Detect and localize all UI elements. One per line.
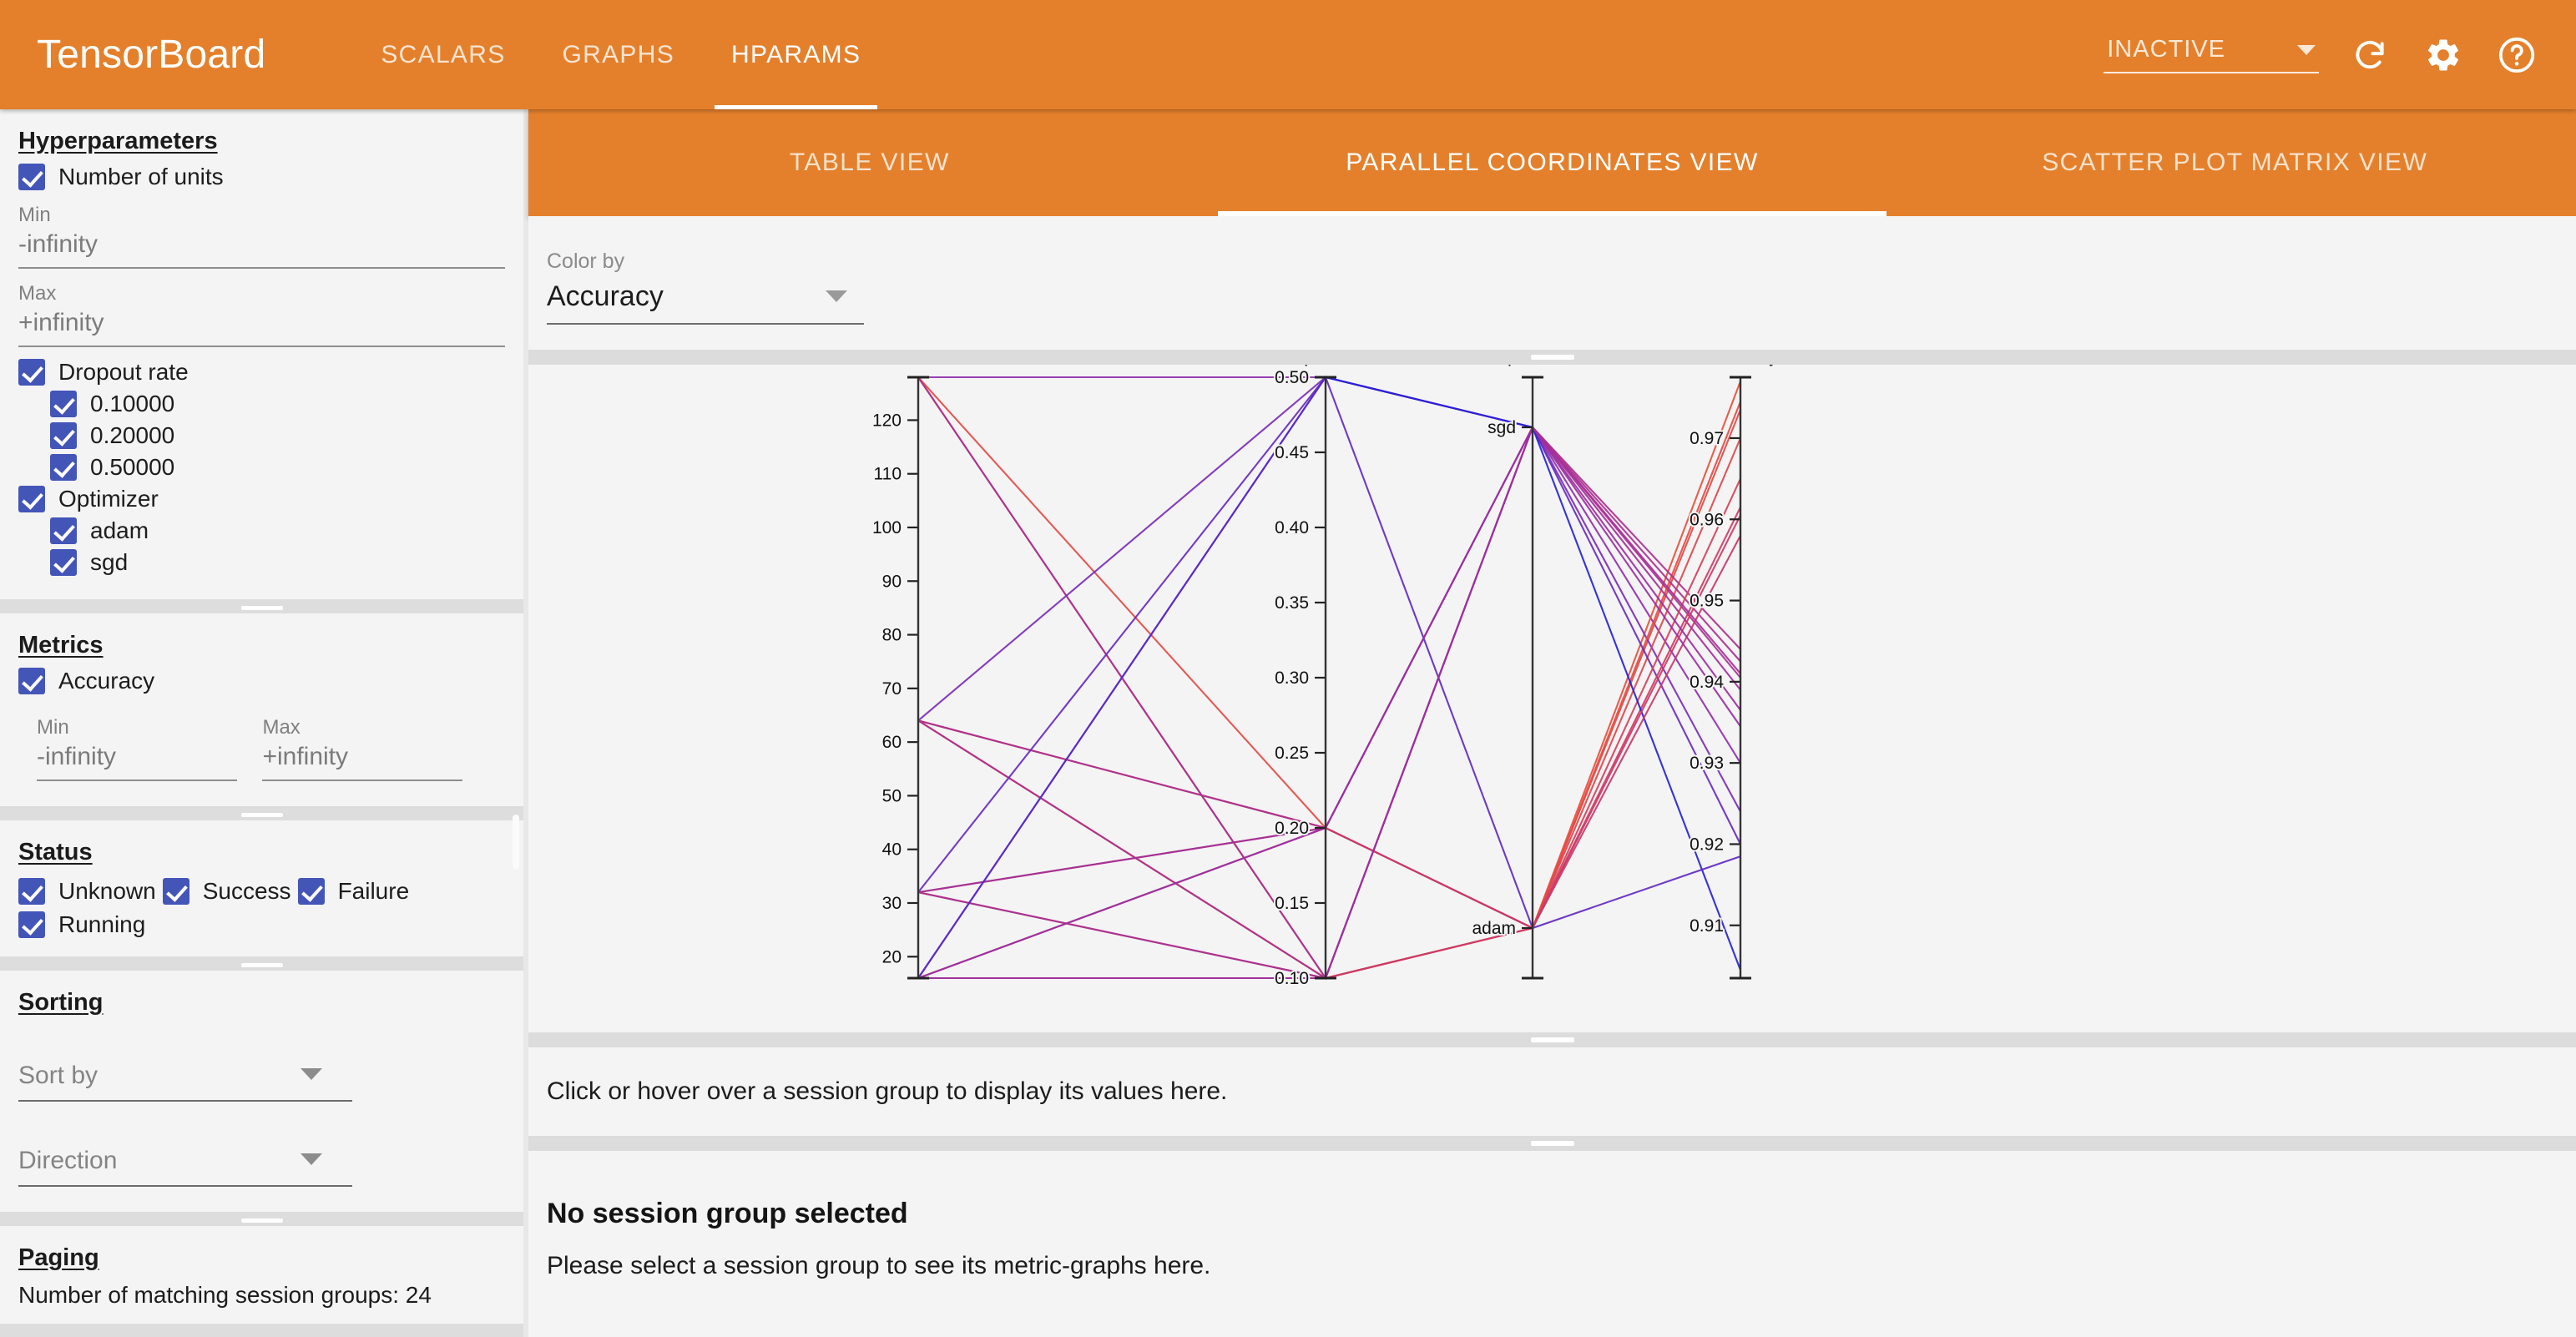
metric-accuracy-label: Accuracy [58,668,154,694]
axis-tick-label: 0.35 [1275,593,1309,613]
accuracy-max-input[interactable]: +infinity [262,743,462,781]
sidebar-resize-handle[interactable] [513,815,519,870]
checkbox-dropout-0.1[interactable] [50,391,77,417]
parallel-coordinates-svg[interactable]: Number of units2020303040405050606070708… [528,365,2576,1032]
axis-tick-label: 0.25 [1275,744,1309,763]
axis-tick-label: 110 [874,465,902,484]
sorting-title: Sorting [18,989,505,1017]
sort-by-select[interactable]: Sort by [18,1062,352,1102]
optimizer-value-label: sgd [90,549,128,576]
axis-title: Number of units [853,365,982,366]
session-values-hint: Click or hover over a session group to d… [528,1047,2576,1136]
hparam-optimizer-label: Optimizer [58,486,159,512]
dropout-value-label: 0.10000 [90,391,174,417]
axis-tick-label: 0.40 [1275,518,1309,537]
matching-session-groups-text: Number of matching session groups: 24 [18,1282,505,1309]
sorting-card: Sorting Sort by Direction [0,971,523,1212]
axis-tick-label: 0.10 [1275,969,1309,988]
nav-tab-graphs[interactable]: GRAPHS [534,0,704,109]
axis-tick-label: 0.93 [1690,754,1724,773]
axis-tick-label: 0.97 [1690,429,1724,448]
checkbox-optimizer-adam[interactable] [50,517,77,544]
optimizer-value-row[interactable]: adam [18,517,505,544]
session-group-line[interactable] [918,427,1740,978]
left-sidebar[interactable]: Hyperparameters Number of units Min -inf… [0,109,523,1337]
top-app-bar: TensorBoard SCALARS GRAPHS HPARAMS INACT… [0,0,2576,109]
hparam-number-of-units-label: Number of units [58,164,224,190]
axis-tick-label: sgd [1488,418,1516,437]
number-of-units-min-input[interactable]: -infinity [18,230,505,269]
tab-scatter-plot-matrix-view[interactable]: SCATTER PLOT MATRIX VIEW [1893,109,2576,216]
status-label: Success [203,878,291,905]
hparam-dropout-rate-row[interactable]: Dropout rate [18,359,505,386]
max-label: Max [18,282,505,305]
session-group-body: Please select a session group to see its… [547,1252,2558,1280]
number-of-units-max-field[interactable]: Max +infinity [18,282,505,347]
sort-by-value: Sort by [18,1062,98,1089]
status-item-failure[interactable]: Failure [298,878,410,905]
color-by-select[interactable]: Accuracy [547,280,864,325]
axis-tick-label: 0.95 [1690,592,1724,611]
chevron-down-icon [301,1068,322,1080]
accuracy-min-input[interactable]: -infinity [37,743,237,781]
max-label: Max [262,716,462,739]
help-circle-icon[interactable] [2494,33,2539,78]
status-card: Status Unknown Success Failure Running [0,820,523,956]
axis-tick-label: adam [1472,919,1516,938]
hparam-number-of-units-row[interactable]: Number of units [18,164,505,190]
chevron-down-icon [2297,45,2316,55]
session-group-line[interactable] [918,377,1740,928]
reload-status-select[interactable]: INACTIVE [2104,36,2319,73]
checkbox-dropout-0.2[interactable] [50,422,77,449]
app-bar-actions: INACTIVE [2104,33,2576,78]
axis-tick-label: 0.15 [1275,894,1309,913]
metrics-title: Metrics [18,632,505,659]
session-group-line[interactable] [918,427,1740,978]
axis-tick-label: 50 [882,786,902,805]
panel-resize-handle[interactable] [241,963,283,967]
chevron-down-icon [826,290,847,302]
hyperparameters-title: Hyperparameters [18,128,505,155]
axis-number-of-units[interactable]: Number of units2020303040405050606070708… [853,365,982,978]
dropout-value-label: 0.50000 [90,454,174,481]
accuracy-max-field[interactable]: Max +infinity [262,716,462,781]
session-group-line[interactable] [918,438,1740,928]
axis-tick-label: 0.92 [1690,835,1724,854]
metrics-card: Metrics Accuracy Min -infinity Max +infi… [0,613,523,806]
panel-resize-handle[interactable] [241,606,283,610]
view-tabs: TABLE VIEW PARALLEL COORDINATES VIEW SCA… [528,109,2576,216]
paging-card: Paging Number of matching session groups… [0,1226,523,1324]
color-by-value: Accuracy [547,280,664,312]
session-group-line[interactable] [918,377,1740,978]
status-item-running[interactable]: Running [18,911,145,938]
panel-resize-handle[interactable] [241,1218,283,1223]
axis-title: Optimizer [1493,365,1572,366]
status-title: Status [18,839,505,866]
axis-dropout-rate[interactable]: Dropout rate0.100.100.150.150.200.200.25… [1275,365,1376,988]
chevron-down-icon [301,1153,322,1165]
session-group-line[interactable] [918,377,1740,978]
checkbox-status-failure[interactable] [298,878,325,905]
session-group-line[interactable] [918,401,1740,978]
accuracy-min-field[interactable]: Min -infinity [37,716,237,781]
axis-tick-label: 0.94 [1690,673,1724,692]
color-by-label: Color by [547,250,2576,274]
parallel-coordinates-chart[interactable]: Number of units2020303040405050606070708… [528,365,2576,1032]
session-group-line[interactable] [918,377,1740,892]
dropout-value-row[interactable]: 0.20000 [18,422,505,449]
axis-title: Accuracy [1703,365,1778,366]
axis-tick-label: 0.96 [1690,510,1724,529]
axis-tick-label: 0.45 [1275,443,1309,462]
tab-parallel-coordinates-view[interactable]: PARALLEL COORDINATES VIEW [1211,109,1894,216]
axis-tick-label: 60 [882,733,902,752]
checkbox-dropout-0.5[interactable] [50,454,77,481]
tab-table-view[interactable]: TABLE VIEW [528,109,1211,216]
status-item-success[interactable]: Success [163,878,291,905]
axis-tick-label: 0.30 [1275,668,1309,688]
status-label: Unknown [58,878,156,905]
panel-divider[interactable] [528,350,2576,365]
dropout-value-label: 0.20000 [90,422,174,449]
panel-divider[interactable] [528,1136,2576,1151]
axis-title: Dropout rate [1275,365,1376,366]
direction-value: Direction [18,1147,117,1174]
app-title: TensorBoard [37,32,265,78]
color-by-control: Color by Accuracy [528,216,2576,350]
checkbox-dropout-rate[interactable] [18,359,45,386]
nav-tab-hparams[interactable]: HPARAMS [703,0,889,109]
session-group-title: No session group selected [547,1198,2558,1230]
checkbox-status-running[interactable] [18,911,45,938]
panel-resize-handle[interactable] [241,813,283,817]
checkbox-status-unknown[interactable] [18,878,45,905]
axis-tick-label: 70 [882,679,902,699]
dropout-value-row[interactable]: 0.10000 [18,391,505,417]
checkbox-number-of-units[interactable] [18,164,45,190]
direction-select[interactable]: Direction [18,1147,352,1187]
number-of-units-min-field[interactable]: Min -infinity [18,204,505,269]
checkbox-status-success[interactable] [163,878,189,905]
status-item-unknown[interactable]: Unknown [18,878,156,905]
session-group-line[interactable] [918,427,1740,978]
axis-tick-label: 0.50 [1275,368,1309,387]
checkbox-optimizer-sgd[interactable] [50,549,77,576]
axis-tick-label: 100 [872,518,902,537]
axis-tick-label: 30 [882,894,902,913]
session-group-line[interactable] [918,377,1740,978]
axis-tick-label: 90 [882,572,902,591]
metric-accuracy-row[interactable]: Accuracy [18,668,505,694]
session-group-line[interactable] [918,427,1740,978]
min-label: Min [18,204,505,227]
dropout-value-row[interactable]: 0.50000 [18,454,505,481]
tensorboard-hparams-page: TensorBoard SCALARS GRAPHS HPARAMS INACT… [0,0,2576,1337]
session-group-panel: No session group selected Please select … [528,1151,2576,1337]
checkbox-metric-accuracy[interactable] [18,668,45,694]
primary-nav: SCALARS GRAPHS HPARAMS [352,0,889,109]
reload-status-label: INACTIVE [2107,36,2225,63]
hparam-optimizer-row[interactable]: Optimizer [18,486,505,512]
refresh-icon[interactable] [2347,33,2392,78]
min-label: Min [37,716,237,739]
panel-resize-handle[interactable] [1531,1037,1574,1042]
color-by-panel: Color by Accuracy [528,216,2576,350]
axis-tick-label: 80 [882,626,902,645]
axis-tick-label: 20 [882,947,902,966]
settings-gear-icon[interactable] [2421,33,2466,78]
hyperparameters-card: Hyperparameters Number of units Min -inf… [0,109,523,599]
status-checkbox-group: Unknown Success Failure Running [18,875,505,941]
optimizer-value-row[interactable]: sgd [18,549,505,576]
axis-tick-label: 120 [872,411,902,430]
panel-divider[interactable] [528,1032,2576,1047]
panel-resize-handle[interactable] [1531,1141,1574,1146]
paging-title: Paging [18,1244,505,1272]
hparam-dropout-rate-label: Dropout rate [58,359,189,386]
panel-resize-handle[interactable] [1531,355,1574,360]
checkbox-optimizer[interactable] [18,486,45,512]
number-of-units-max-input[interactable]: +infinity [18,309,505,347]
status-label: Failure [338,878,410,905]
nav-tab-scalars[interactable]: SCALARS [352,0,533,109]
axis-tick-label: 0.20 [1275,819,1309,838]
main-content: TABLE VIEW PARALLEL COORDINATES VIEW SCA… [528,109,2576,1337]
axis-tick-label: 40 [882,840,902,860]
session-group-line[interactable] [918,377,1740,978]
status-label: Running [58,911,145,938]
optimizer-value-label: adam [90,517,149,544]
axis-tick-label: 0.91 [1690,916,1724,936]
